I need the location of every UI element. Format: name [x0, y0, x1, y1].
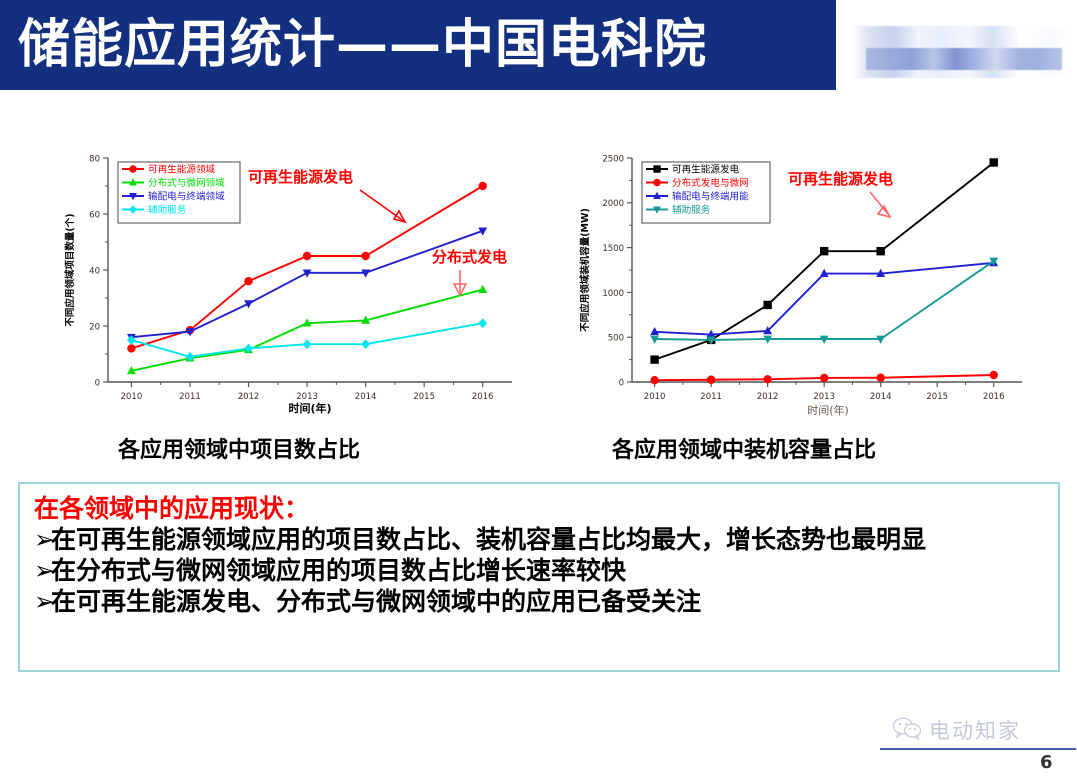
x-tick-label: 2013 [813, 392, 835, 402]
wechat-icon-svg [892, 716, 922, 740]
data-point-marker [763, 375, 771, 383]
x-tick-label: 2015 [413, 392, 435, 402]
legend-label: 输配电与终端用能 [672, 191, 749, 203]
legend-label: 辅助服务 [672, 204, 711, 216]
data-point-marker [650, 355, 658, 363]
left-x-axis-label: 时间(年) [288, 401, 331, 415]
x-tick-label: 2012 [238, 392, 260, 402]
x-tick-label: 2016 [983, 392, 1005, 402]
series-输配电与终端用能 [650, 258, 998, 338]
caption-left-chart: 各应用领域中项目数占比 [118, 432, 360, 464]
data-point-marker [650, 376, 658, 384]
x-tick-label: 2014 [355, 392, 377, 402]
summary-bullet: ➢在可再生能源领域应用的项目数占比、装机容量占比均最大，增长态势也最明显 [34, 525, 1044, 555]
x-tick-label: 2016 [472, 392, 494, 402]
bullet-marker-icon: ➢ [34, 587, 51, 617]
data-point-marker [361, 252, 369, 260]
annotation-arrow-down-right [870, 192, 890, 217]
chart-project-count-share: 020406080 2010201120122013201420152016 不… [60, 140, 530, 430]
right-x-ticks: 2010201120122013201420152016 [644, 382, 1005, 402]
x-tick-label: 2014 [870, 392, 892, 402]
y-tick-label: 0 [619, 378, 624, 388]
left-legend: 可再生能源领域分布式与微网领域输配电与终端领域辅助服务 [118, 162, 240, 223]
redacted-logo [852, 26, 1074, 78]
summary-bullet-list: ➢在可再生能源领域应用的项目数占比、装机容量占比均最大，增长态势也最明显➢在分布… [34, 525, 1044, 617]
y-tick-label: 2500 [602, 154, 624, 164]
page-number: 6 [1040, 752, 1053, 773]
chart-right-svg: 05001000150020002500 2010201120122013201… [570, 140, 1040, 430]
x-tick-label: 2013 [296, 392, 318, 402]
x-tick-label: 2012 [757, 392, 779, 402]
data-point-marker [876, 247, 884, 255]
y-tick-label: 60 [89, 210, 100, 220]
y-tick-label: 1000 [602, 289, 624, 299]
summary-bullet-text: 在可再生能源领域应用的项目数占比、装机容量占比均最大，增长态势也最明显 [51, 525, 926, 554]
x-tick-label: 2011 [700, 392, 722, 402]
left-y-ticks: 020406080 [89, 154, 108, 388]
y-tick-label: 40 [89, 266, 100, 276]
data-point-marker [820, 374, 828, 382]
summary-title: 在各领域中的应用现状： [34, 494, 1044, 524]
legend-label: 辅助服务 [148, 204, 187, 216]
bullet-marker-icon: ➢ [34, 525, 51, 555]
data-point-marker [763, 301, 771, 309]
legend-label: 可再生能源领域 [148, 164, 216, 176]
right-y-axis-label: 不同应用领域装机容量(MW) [579, 208, 591, 332]
summary-bullet: ➢在可再生能源发电、分布式与微网领域中的应用已备受关注 [34, 587, 1044, 617]
data-point-marker [479, 182, 487, 190]
right-legend: 可再生能源发电分布式发电与微网输配电与终端用能辅助服务 [642, 162, 770, 223]
legend-marker-icon [653, 165, 660, 172]
data-point-marker [478, 285, 487, 293]
y-tick-label: 80 [89, 154, 100, 164]
data-point-marker [244, 277, 252, 285]
data-point-marker [820, 247, 828, 255]
wechat-icon [892, 716, 922, 744]
legend-label: 可再生能源发电 [672, 164, 740, 176]
annotation-distributed-generation: 分布式发电 [432, 248, 507, 266]
footer-watermark-text: 电动知家 [929, 715, 1021, 745]
right-y-ticks: 05001000150020002500 [602, 154, 632, 388]
data-point-marker [303, 252, 311, 260]
summary-bullet-text: 在可再生能源发电、分布式与微网领域中的应用已备受关注 [51, 587, 701, 616]
legend-label: 输配电与终端领域 [148, 191, 225, 203]
data-point-marker [127, 344, 135, 352]
slide-root: 储能应用统计——中国电科院 020406080 2010201120122013… [0, 0, 1077, 780]
data-point-marker [990, 371, 998, 379]
legend-marker-icon [129, 165, 136, 172]
legend-label: 分布式与微网领域 [148, 177, 225, 189]
left-x-ticks: 2010201120122013201420152016 [121, 382, 494, 402]
chart-left-svg: 020406080 2010201120122013201420152016 不… [60, 140, 530, 430]
y-tick-label: 0 [95, 378, 100, 388]
data-point-marker [707, 376, 715, 384]
annotation-renewable-generation-right: 可再生能源发电 [788, 170, 893, 188]
y-tick-label: 20 [89, 322, 100, 332]
annotation-renewable-generation: 可再生能源发电 [248, 168, 353, 186]
footer-watermark: 电动知家 [892, 712, 1072, 748]
annotation-arrow-diagonal [360, 190, 405, 222]
data-point-marker [361, 339, 370, 349]
caption-right-chart: 各应用领域中装机容量占比 [612, 432, 876, 464]
x-tick-label: 2011 [179, 392, 201, 402]
footer-divider [880, 748, 1076, 750]
data-point-marker [990, 158, 998, 166]
annotation-arrow-down [454, 270, 466, 295]
data-point-marker [876, 373, 884, 381]
legend-marker-icon [653, 179, 660, 186]
x-tick-label: 2015 [926, 392, 948, 402]
page-title: 储能应用统计——中国电科院 [18, 8, 828, 82]
summary-bullet-text: 在分布式与微网领域应用的项目数占比增长速率较快 [51, 556, 626, 585]
series-分布式与微网领域 [127, 285, 487, 374]
legend-label: 分布式发电与微网 [672, 177, 749, 189]
summary-box: 在各领域中的应用现状： ➢在可再生能源领域应用的项目数占比、装机容量占比均最大，… [18, 482, 1060, 672]
x-tick-label: 2010 [121, 392, 143, 402]
y-tick-label: 2000 [602, 199, 624, 209]
data-point-marker [478, 318, 487, 328]
chart-installed-capacity-share: 05001000150020002500 2010201120122013201… [570, 140, 1040, 430]
left-y-axis-label: 不同应用领域项目数量(个) [64, 213, 76, 326]
y-tick-label: 1500 [602, 244, 624, 254]
summary-bullet: ➢在分布式与微网领域应用的项目数占比增长速率较快 [34, 556, 1044, 586]
right-x-axis-label: 时间(年) [807, 403, 849, 417]
data-point-marker [303, 339, 312, 349]
x-tick-label: 2010 [644, 392, 666, 402]
bullet-marker-icon: ➢ [34, 556, 51, 586]
y-tick-label: 500 [608, 334, 624, 344]
